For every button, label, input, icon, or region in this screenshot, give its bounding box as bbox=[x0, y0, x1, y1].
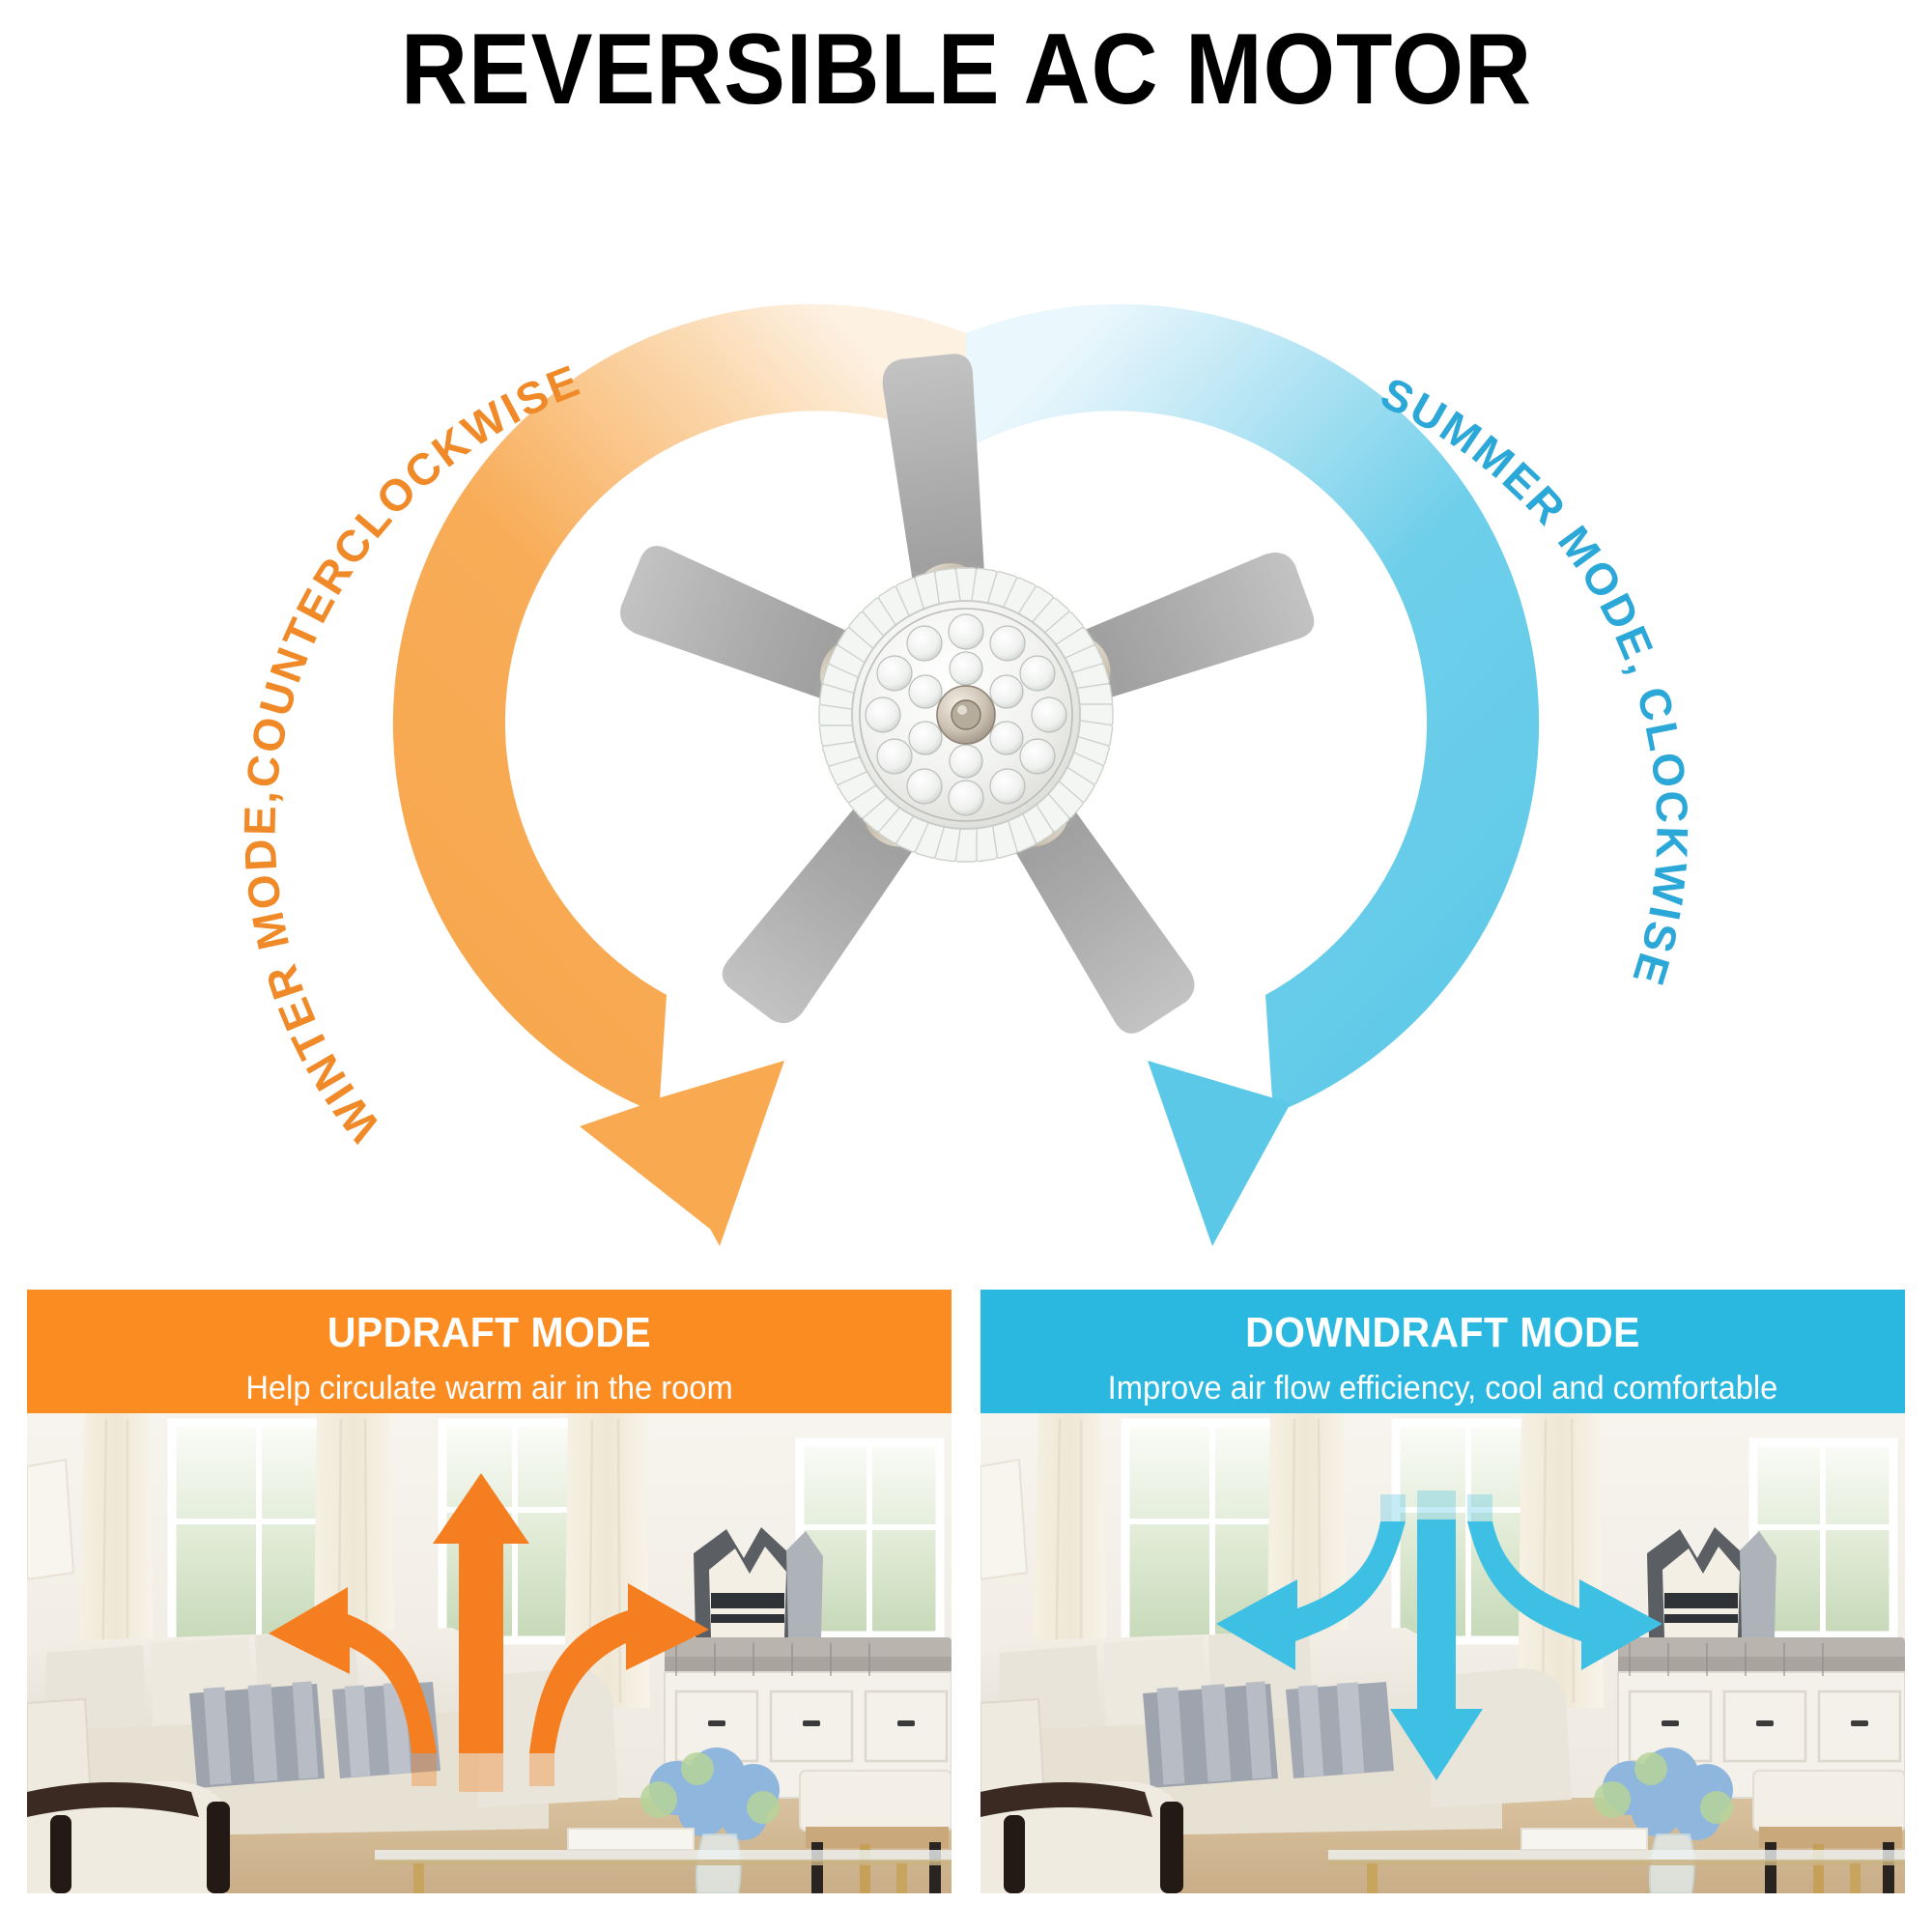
reversible-motor-diagram: WINTER MODE,COUNTERCLOCKWISE SUMMER MODE… bbox=[0, 135, 1932, 1275]
panel-downdraft[interactable]: DOWNDRAFT MODE Improve air flow efficien… bbox=[980, 1290, 1905, 1893]
bench-pillow bbox=[1647, 1527, 1776, 1637]
panel-header-downdraft: DOWNDRAFT MODE Improve air flow efficien… bbox=[980, 1290, 1905, 1413]
accent-chair bbox=[27, 1781, 230, 1893]
mode-panels: UPDRAFT MODE Help circulate warm air in … bbox=[27, 1290, 1905, 1893]
updraft-room-photo bbox=[27, 1413, 952, 1893]
bench-pillow bbox=[694, 1527, 823, 1637]
panel-title: DOWNDRAFT MODE bbox=[1012, 1309, 1872, 1358]
page-title-container: REVERSIBLE AC MOTOR bbox=[0, 17, 1932, 123]
downdraft-room-photo bbox=[980, 1413, 1905, 1893]
panel-subtitle: Help circulate warm air in the room bbox=[45, 1370, 933, 1407]
throw-pillow bbox=[1143, 1681, 1394, 1788]
panel-header-updraft: UPDRAFT MODE Help circulate warm air in … bbox=[27, 1290, 952, 1413]
crystal-light-kit bbox=[811, 560, 1121, 869]
panel-updraft[interactable]: UPDRAFT MODE Help circulate warm air in … bbox=[27, 1290, 952, 1893]
lamp-shade bbox=[27, 1460, 73, 1579]
accent-chair bbox=[980, 1781, 1183, 1893]
panel-subtitle: Improve air flow efficiency, cool and co… bbox=[999, 1370, 1887, 1407]
panel-title: UPDRAFT MODE bbox=[59, 1309, 919, 1358]
window bbox=[172, 1423, 940, 1645]
lamp-shade bbox=[980, 1460, 1027, 1579]
page-title: REVERSIBLE AC MOTOR bbox=[400, 17, 1531, 123]
ceiling-fan-product bbox=[614, 350, 1321, 1042]
